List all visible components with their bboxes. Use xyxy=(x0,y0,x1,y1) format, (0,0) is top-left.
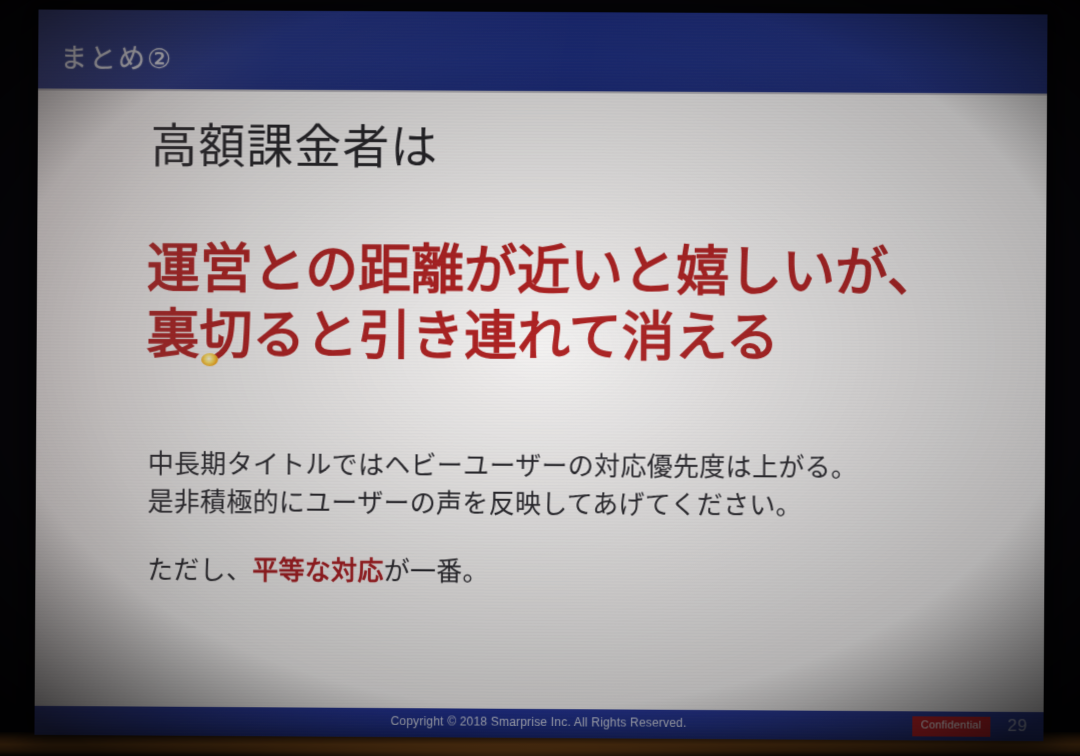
confidential-badge: Confidential xyxy=(912,716,991,737)
slide-headline: 運営との距離が近いと嬉しいが、 裏切ると引き連れて消える xyxy=(146,237,940,373)
headline-line-1: 運営との距離が近いと嬉しいが、 xyxy=(147,237,941,307)
slide-body-copy: 中長期タイトルではヘビーユーザーの対応優先度は上がる。 是非積極的にユーザーの声… xyxy=(147,445,857,525)
presentation-slide: まとめ② 高額課金者は 運営との距離が近いと嬉しいが、 裏切ると引き連れて消える… xyxy=(34,10,1047,742)
projected-slide-photo: まとめ② 高額課金者は 運営との距離が近いと嬉しいが、 裏切ると引き連れて消える… xyxy=(0,0,1080,756)
footer-copyright: Copyright © 2018 Smarprise Inc. All Righ… xyxy=(35,713,1044,731)
closing-suffix: が一番。 xyxy=(384,556,489,587)
slide-page-number: 29 xyxy=(1007,717,1027,734)
body-copy-line-2: 是非積極的にユーザーの声を反映してあげてください。 xyxy=(147,483,857,525)
headline-line-2: 裏切ると引き連れて消える xyxy=(146,303,940,373)
closing-prefix: ただし、 xyxy=(147,555,252,586)
closing-emphasis: 平等な対応 xyxy=(252,555,384,586)
slide-header-title: まとめ② xyxy=(60,46,173,74)
slide-closing-line: ただし、平等な対応が一番。 xyxy=(147,557,489,585)
slide-lede-text: 高額課金者は xyxy=(150,122,438,170)
slide-header-band: まとめ② xyxy=(38,10,1047,94)
slide-content-area: 高額課金者は 運営との距離が近いと嬉しいが、 裏切ると引き連れて消える 中長期タ… xyxy=(35,90,1047,712)
body-copy-line-1: 中長期タイトルではヘビーユーザーの対応優先度は上がる。 xyxy=(148,445,858,487)
